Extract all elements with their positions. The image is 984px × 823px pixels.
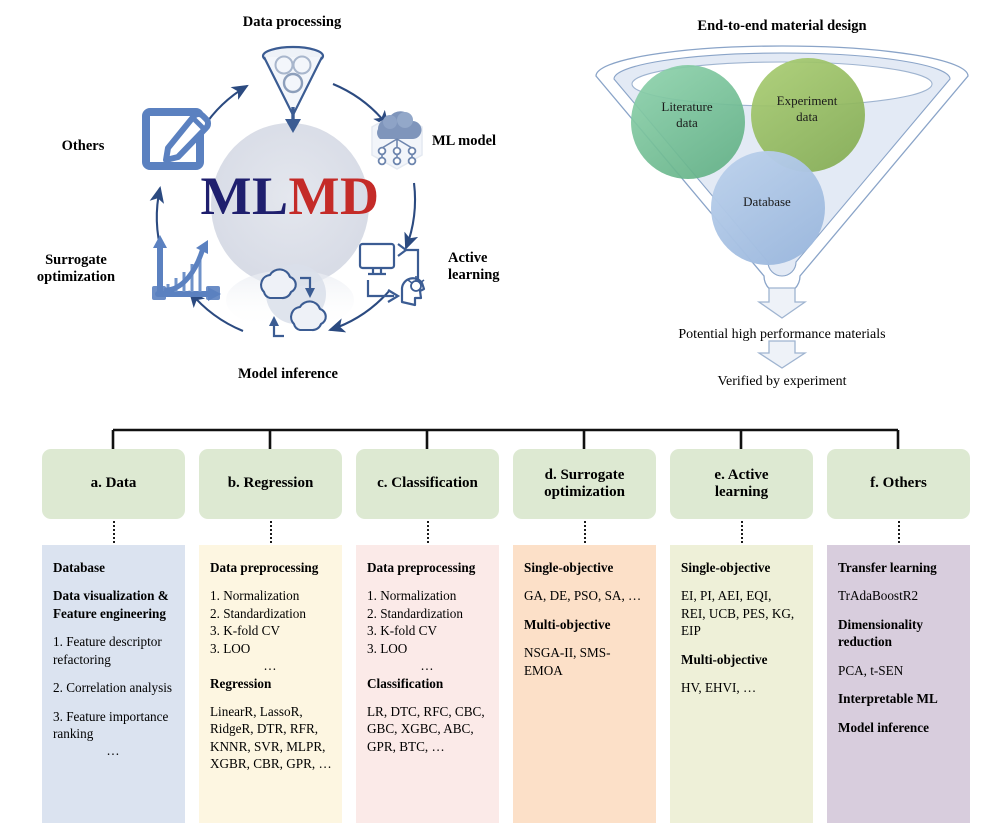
col-c-line-1: 1. Normalization	[367, 587, 489, 604]
col-b-line-7: RidgeR, DTR, RFR,	[210, 720, 332, 737]
col-c-line-3: 3. K-fold CV	[367, 622, 489, 639]
column-header-d-surrogate-optimization[interactable]: d. Surrogate optimization	[513, 449, 656, 519]
col-b-line-2: 2. Standardization	[210, 605, 332, 622]
end-to-end-design-panel: End-to-end material design	[580, 0, 984, 410]
column-connector-c	[356, 519, 499, 545]
col-b-line-1: 1. Normalization	[210, 587, 332, 604]
col-e-line-3: EIP	[681, 622, 803, 639]
mlmd-wordmark: MLMD	[170, 165, 410, 227]
mlmd-wordmark-ml: ML	[201, 166, 289, 226]
monitor-human-loop-icon	[360, 244, 424, 305]
col-b-line-0: Data preprocessing	[210, 559, 332, 576]
col-a-line-6: 3. Feature importance	[53, 708, 175, 725]
col-d-line-3: NSGA-II, SMS-	[524, 644, 646, 661]
funnel-icon	[263, 47, 323, 133]
arrow-data-processing-to-ml-model	[333, 84, 388, 126]
col-e-line-1: EI, PI, AEI, EQI,	[681, 587, 803, 604]
col-b-ellipsis: …	[210, 657, 332, 674]
col-b-line-8: KNNR, SVR, MLPR,	[210, 738, 332, 755]
col-f-line-6: Model inference	[838, 719, 960, 736]
column-connector-f	[827, 519, 970, 545]
col-f-line-0: Transfer learning	[838, 559, 960, 576]
col-b-line-5: Regression	[210, 675, 332, 692]
cycle-label-surrogate-optimization: Surrogate optimization	[16, 252, 136, 286]
col-c-line-2: 2. Standardization	[367, 605, 489, 622]
cycle-label-ml-model: ML model	[432, 133, 542, 150]
column-header-a-data[interactable]: a. Data	[42, 449, 185, 519]
col-f-line-2: Dimensionality	[838, 616, 960, 633]
col-d-line-4: EMOA	[524, 662, 646, 679]
column-connector-e	[670, 519, 813, 545]
col-b-line-6: LinearR, LassoR,	[210, 703, 332, 720]
col-f-line-4: PCA, t-SEN	[838, 662, 960, 679]
column-body-a-data: Database Data visualization & Feature en…	[42, 545, 185, 823]
col-c-line-5: Classification	[367, 675, 489, 692]
cycle-label-active-learning: Active learning	[448, 250, 540, 284]
cycle-label-model-inference: Model inference	[178, 366, 398, 383]
funnel-caption-verified-by-experiment: Verified by experiment	[580, 374, 984, 390]
column-b-regression: b. Regression Data preprocessing 1. Norm…	[199, 449, 342, 823]
col-a-line-3: 1. Feature descriptor	[53, 633, 175, 650]
col-c-line-7: GBC, XGBC, ABC,	[367, 720, 489, 737]
column-connector-a	[42, 519, 185, 545]
column-body-b-regression: Data preprocessing 1. Normalization 2. S…	[199, 545, 342, 823]
col-c-line-4: 3. LOO	[367, 640, 489, 657]
col-c-ellipsis: …	[367, 657, 489, 674]
col-a-line-5: 2. Correlation analysis	[53, 679, 175, 696]
column-header-f-others[interactable]: f. Others	[827, 449, 970, 519]
edit-pencil-square-icon	[146, 112, 208, 166]
bubble-literature-data	[631, 65, 745, 179]
col-a-line-4: refactoring	[53, 651, 175, 668]
col-f-line-3: reduction	[838, 633, 960, 650]
col-d-line-0: Single-objective	[524, 559, 646, 576]
col-a-line-7: ranking	[53, 725, 175, 742]
col-d-line-1: GA, DE, PSO, SA, …	[524, 587, 646, 604]
column-d-surrogate-optimization: d. Surrogate optimization Single-objecti…	[513, 449, 656, 823]
column-header-e-active-learning[interactable]: e. Active learning	[670, 449, 813, 519]
column-body-c-classification: Data preprocessing 1. Normalization 2. S…	[356, 545, 499, 823]
mlmd-cycle-panel: Data processing ML model Active learning…	[0, 0, 580, 410]
module-columns-panel: a. Data Database Data visualization & Fe…	[0, 415, 984, 823]
col-c-line-8: GPR, BTC, …	[367, 738, 489, 755]
col-a-ellipsis: …	[53, 742, 175, 759]
funnel-graphic	[580, 0, 984, 410]
col-f-line-5: Interpretable ML	[838, 690, 960, 707]
column-body-d-surrogate-optimization: Single-objective GA, DE, PSO, SA, … Mult…	[513, 545, 656, 823]
col-c-line-0: Data preprocessing	[367, 559, 489, 576]
cloud-neural-network-icon	[372, 111, 422, 169]
col-a-line-2: Feature engineering	[53, 605, 175, 622]
column-f-others: f. Others Transfer learning TrAdaBoostR2…	[827, 449, 970, 823]
column-connector-b	[199, 519, 342, 545]
column-body-f-others: Transfer learning TrAdaBoostR2 Dimension…	[827, 545, 970, 823]
column-e-active-learning: e. Active learning Single-objective EI, …	[670, 449, 813, 823]
col-d-line-2: Multi-objective	[524, 616, 646, 633]
col-f-line-1: TrAdaBoostR2	[838, 587, 960, 604]
column-connector-d	[513, 519, 656, 545]
column-c-classification: c. Classification Data preprocessing 1. …	[356, 449, 499, 823]
funnel-output-arrow-2	[759, 341, 805, 368]
cycle-label-others: Others	[40, 138, 126, 155]
col-a-line-1: Data visualization &	[53, 587, 175, 604]
growth-chart-icon	[152, 235, 221, 301]
col-e-line-4: Multi-objective	[681, 651, 803, 668]
column-header-b-regression[interactable]: b. Regression	[199, 449, 342, 519]
column-header-c-classification[interactable]: c. Classification	[356, 449, 499, 519]
col-e-line-0: Single-objective	[681, 559, 803, 576]
funnel-output-arrow-1	[759, 288, 805, 318]
cycle-label-data-processing: Data processing	[182, 14, 402, 31]
col-b-line-9: XGBR, CBR, GPR, …	[210, 755, 332, 772]
mlmd-wordmark-md: MD	[289, 166, 380, 226]
col-b-line-4: 3. LOO	[210, 640, 332, 657]
bubble-database	[711, 151, 825, 265]
col-c-line-6: LR, DTC, RFC, CBC,	[367, 703, 489, 720]
col-e-line-5: HV, EHVI, …	[681, 679, 803, 696]
funnel-caption-potential-materials: Potential high performance materials	[580, 327, 984, 343]
col-a-line-0: Database	[53, 559, 175, 576]
col-b-line-3: 3. K-fold CV	[210, 622, 332, 639]
column-a-data: a. Data Database Data visualization & Fe…	[42, 449, 185, 823]
cloud-exchange-icon	[261, 264, 326, 336]
col-e-line-2: REI, UCB, PES, KG,	[681, 605, 803, 622]
column-body-e-active-learning: Single-objective EI, PI, AEI, EQI, REI, …	[670, 545, 813, 823]
